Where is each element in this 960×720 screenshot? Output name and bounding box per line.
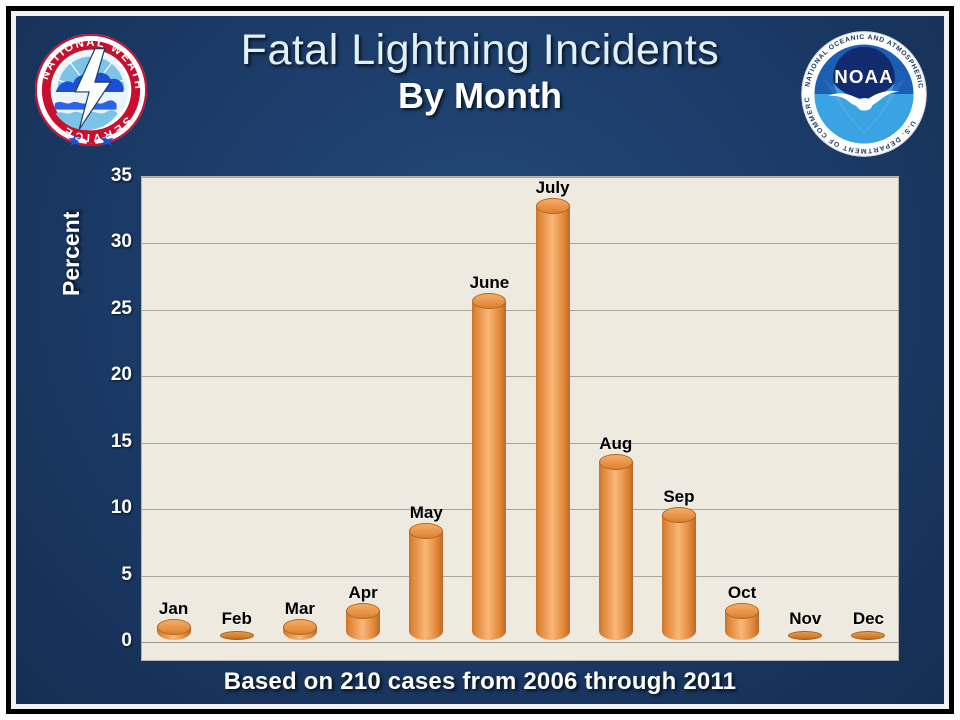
chart-caption: Based on 210 cases from 2006 through 201… [16,668,944,696]
bar-top-ellipse [536,198,570,214]
slide-header: NATIONAL WEATHER SERVICE Fatal Lightning… [16,16,944,161]
page-title: Fatal Lightning Incidents [166,28,794,73]
y-tick-label-10: 10 [111,497,132,519]
y-tick-label-5: 5 [121,564,132,586]
y-tick-label-0: 0 [121,630,132,652]
bar-label-june: June [470,273,510,293]
bar-top-ellipse [157,619,191,635]
bar-body [662,515,696,640]
y-axis-label: Percent [58,212,85,296]
bar-dec[interactable] [851,631,885,640]
bar-top-ellipse [662,507,696,523]
y-tick-label-25: 25 [111,298,132,320]
bar-body [851,631,885,640]
bar-top-ellipse [283,619,317,635]
bar-top-ellipse [472,293,506,309]
bar-body [788,631,822,640]
bar-body [346,611,380,640]
bar-label-mar: Mar [285,599,315,619]
title-block: Fatal Lightning Incidents By Month [166,28,794,115]
page-subtitle: By Month [166,77,794,115]
bar-body [599,462,633,640]
bar-label-nov: Nov [789,609,821,629]
national-weather-service-logo: NATIONAL WEATHER SERVICE [32,28,150,152]
bar-body [220,631,254,640]
bar-sep[interactable] [662,515,696,640]
bar-body [157,627,191,640]
y-tick-label-30: 30 [111,231,132,253]
bar-aug[interactable] [599,462,633,640]
bar-body [472,301,506,640]
bar-june[interactable] [472,301,506,640]
bar-body [283,627,317,640]
bar-oct[interactable] [725,611,759,640]
chart-plot-area: JanFebMarAprMayJuneJulyAugSepOctNovDec [141,176,899,661]
y-tick-label-20: 20 [111,364,132,386]
bar-apr[interactable] [346,611,380,640]
bar-label-july: July [536,178,570,198]
bar-label-dec: Dec [853,609,884,629]
bar-top-ellipse [346,603,380,619]
bar-body [725,611,759,640]
svg-text:NOAA: NOAA [834,66,893,87]
bar-top-ellipse [725,603,759,619]
bar-jan[interactable] [157,627,191,640]
y-tick-label-15: 15 [111,431,132,453]
bar-label-apr: Apr [348,583,377,603]
y-tick-label-35: 35 [111,165,132,187]
bar-label-aug: Aug [599,434,632,454]
bar-mar[interactable] [283,627,317,640]
bar-may[interactable] [409,531,443,640]
bar-label-jan: Jan [159,599,188,619]
bar-label-oct: Oct [728,583,756,603]
slide-root: NATIONAL WEATHER SERVICE Fatal Lightning… [0,0,960,720]
bar-label-may: May [410,503,443,523]
noaa-logo: NOAA NATIONAL OCEANIC AND ATMOSPHERIC AD… [798,28,930,160]
bar-nov[interactable] [788,631,822,640]
bar-label-sep: Sep [663,487,694,507]
bar-label-feb: Feb [222,609,252,629]
bar-body [409,531,443,640]
bar-top-ellipse [599,454,633,470]
bar-feb[interactable] [220,631,254,640]
chart-bars: JanFebMarAprMayJuneJulyAugSepOctNovDec [142,177,898,660]
bar-body [536,206,570,640]
bar-top-ellipse [409,523,443,539]
bar-july[interactable] [536,206,570,640]
